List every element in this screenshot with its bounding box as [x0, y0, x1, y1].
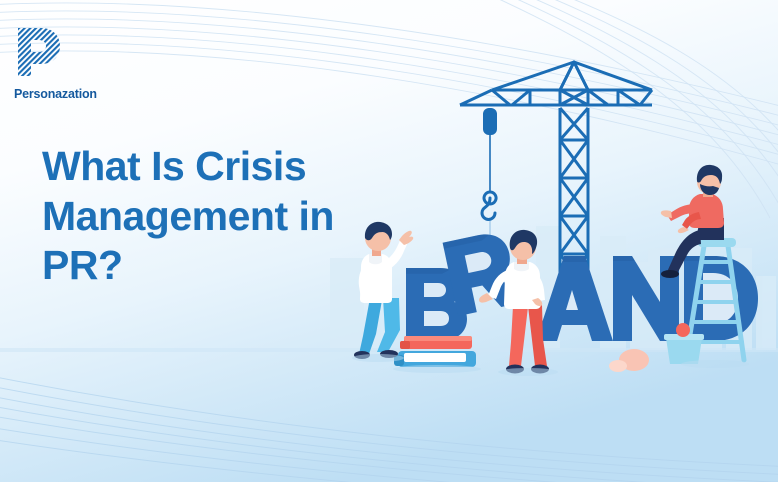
book-stack	[394, 336, 476, 367]
book-blue	[394, 351, 476, 367]
paint-bucket	[664, 334, 704, 364]
crane-hook-assembly	[482, 108, 497, 244]
red-ball	[676, 323, 690, 337]
hero-banner: Personazation What Is Crisis Management …	[0, 0, 778, 482]
brand-construction-illustration	[0, 0, 778, 482]
peach-blobs	[609, 349, 649, 372]
book-red	[400, 336, 472, 349]
brand-letter-A	[536, 256, 613, 341]
